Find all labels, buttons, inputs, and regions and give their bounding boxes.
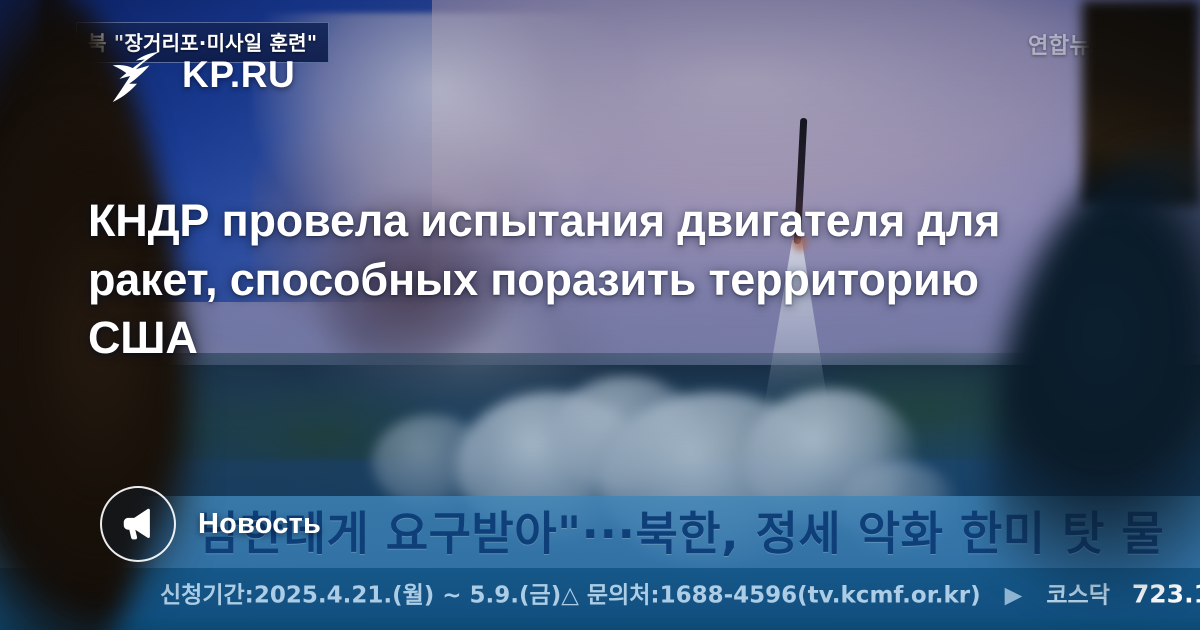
- brand-wordmark: KP.RU: [182, 54, 295, 96]
- ticker-notice-text: 신청기간:2025.4.21.(월) ~ 5.9.(금)△ 문의처:1688-4…: [160, 582, 981, 608]
- news-share-card: 북 "장거리포·미사일 훈련" 연합뉴스TV 남한데게 요구받아"···북한, …: [0, 0, 1200, 630]
- category-badge[interactable]: Новость: [100, 486, 321, 562]
- swallow-bird-icon: [104, 44, 166, 106]
- page-title: КНДР провела испытания двигателя для рак…: [88, 192, 1033, 368]
- brand-logo[interactable]: KP.RU: [104, 44, 295, 106]
- megaphone-icon: [100, 486, 176, 562]
- category-badge-label: Новость: [198, 508, 321, 541]
